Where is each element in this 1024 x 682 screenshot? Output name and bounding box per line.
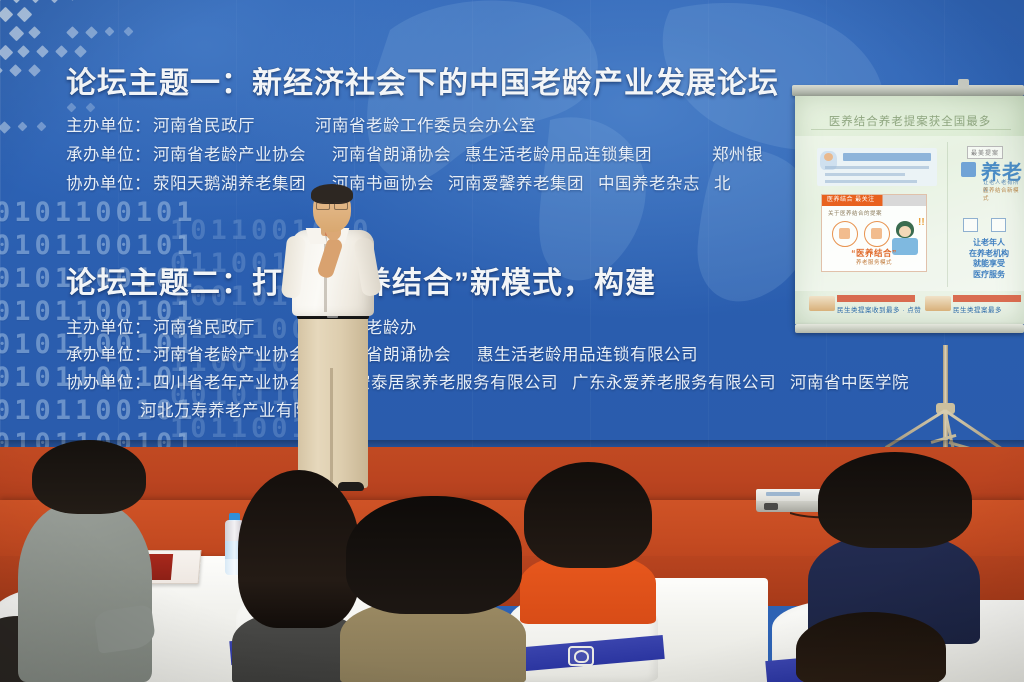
exclamation-mark: !!	[918, 217, 925, 228]
slide-divider-line	[811, 129, 1011, 130]
slide-illustration-panel: 医养结合 最关注 关于医养结合的提案 !! “医养结合” 养老服务模式	[821, 194, 927, 272]
organizer-entry: 河南省老龄工作委员会办公室	[315, 117, 536, 135]
theme1-organizer-row-1: 主办单位：河南省民政厅河南省老龄工作委员会办公室	[66, 112, 536, 136]
organizer-entry: 中国养老杂志	[598, 175, 700, 193]
audience-member-orange-top	[520, 462, 656, 622]
thumbs-up-icon	[961, 162, 976, 177]
presentation-slide: 医养结合养老提案获全国最多 医养结合 最关注 关于医养结合的提案	[795, 96, 1024, 324]
publication-logo-icon	[925, 296, 951, 311]
organizer-label: 承办单位：	[66, 346, 151, 364]
panel-header-bar: 医养结合 最关注	[822, 195, 926, 206]
screen-surface: 医养结合养老提案获全国最多 医养结合 最关注 关于医养结合的提案	[795, 96, 1024, 324]
organizer-entry: 河南省中医学院	[790, 374, 909, 392]
panel-header-text: 医养结合 最关注	[822, 195, 926, 206]
screen-top-bar	[792, 85, 1024, 96]
medical-circle-icon	[832, 221, 858, 247]
checkbox-icon	[963, 218, 978, 232]
conference-photo: 0101100101 0101100101 0101100101 0101100…	[0, 0, 1024, 682]
speaker-trousers	[298, 312, 368, 488]
organizer-entry: 河南省民政厅	[153, 319, 255, 337]
news-title-bar	[843, 153, 931, 161]
projector-lens-icon	[764, 503, 778, 510]
slide-headline: 医养结合养老提案获全国最多	[803, 113, 1017, 129]
news-text-line	[825, 180, 917, 183]
footer-banner-left	[837, 295, 915, 302]
footer-banner-right	[953, 295, 1021, 302]
organizer-label: 主办单位：	[66, 319, 151, 337]
organizer-entry: 惠生活老龄用品连锁集团	[465, 146, 652, 164]
speaker-trouser-split	[330, 368, 333, 482]
organizer-label: 协办单位：	[66, 374, 151, 392]
audience-member-bottom-right	[796, 612, 946, 682]
slide-column-divider	[947, 142, 948, 287]
organizer-entry: 郑州银	[712, 146, 763, 164]
elder-circle-icon	[864, 221, 890, 247]
checkbox-icon	[991, 218, 1006, 232]
organizer-label: 主办单位：	[66, 117, 151, 135]
footer-text-right: 民生类提案最多	[953, 304, 1002, 314]
organizer-label: 协办单位：	[66, 175, 151, 193]
slide-benefit-list: 让老年人 在养老机构 就能享受 医疗服务	[955, 238, 1023, 280]
organizer-entry: 河南爱馨养老集团	[448, 175, 584, 193]
chair-buckle-icon	[568, 646, 594, 666]
slide-footer: 民生类提案收到最多 · 点赞 民生类提案最多	[795, 292, 1024, 320]
speaker-hair	[311, 184, 353, 204]
organizer-label: 承办单位：	[66, 146, 151, 164]
speaker-presenter	[280, 186, 386, 498]
organizer-entry: 广东永爱养老服务有限公司	[572, 374, 776, 392]
panel-micro-text: 关于医养结合的提案	[828, 209, 882, 217]
footer-text-left: 民生类提案收到最多 · 点赞	[837, 304, 921, 314]
news-text-line	[825, 166, 929, 169]
screen-knob[interactable]	[958, 79, 969, 88]
news-text-line	[825, 173, 905, 176]
theme2-organizer-row-3: 协办单位：四川省老年产业协会河南安泰居家养老服务有限公司广东永爱养老服务有限公司…	[66, 369, 909, 393]
organizer-entry: 河南省民政厅	[153, 117, 255, 135]
theme1-organizer-row-2: 承办单位：河南省老龄产业协会河南省朗诵协会惠生活老龄用品连锁集团郑州银	[66, 141, 763, 165]
organizer-entry: 北	[714, 175, 731, 193]
organizer-entry: 河南省老龄产业协会	[153, 146, 306, 164]
publication-logo-icon	[809, 296, 835, 311]
organizer-entry: 惠生活老龄用品连锁有限公司	[477, 346, 698, 364]
projection-screen: 医养结合养老提案获全国最多 医养结合 最关注 关于医养结合的提案	[786, 85, 1024, 345]
theme1-organizer-row-3: 协办单位：荥阳天鹅湖养老集团河南书画协会河南爱馨养老集团中国养老杂志北	[66, 170, 731, 194]
audience-member-foreground	[340, 496, 526, 682]
eyeglasses-icon	[316, 202, 348, 208]
organizer-entry: 河南省朗诵协会	[332, 146, 451, 164]
slide-news-card	[817, 148, 937, 186]
panel-caption-sub: 养老服务模式	[822, 258, 926, 266]
screen-bottom-bar	[795, 324, 1024, 333]
forum-theme-one-title: 论坛主题一：新经济社会下的中国老龄产业发展论坛	[66, 58, 779, 102]
slide-sub-line-2: 医养结合新模式	[983, 186, 1024, 202]
audience-member-grey-suit	[18, 440, 152, 682]
